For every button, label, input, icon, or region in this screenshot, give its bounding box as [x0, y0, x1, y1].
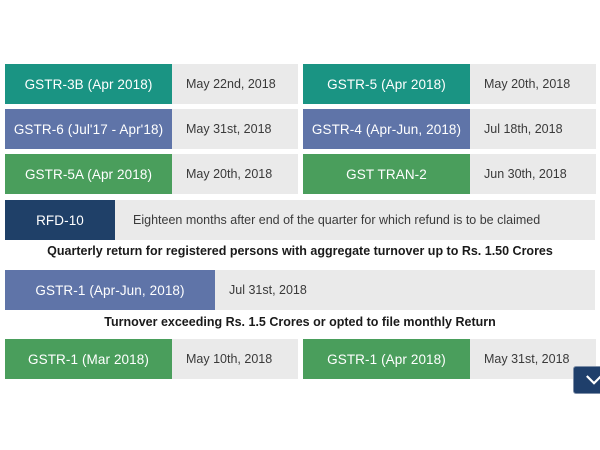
section-heading-quarterly: Quarterly return for registered persons … — [0, 244, 600, 258]
gst-due-date-table: GSTR-3B (Apr 2018) May 22nd, 2018 GSTR-5… — [0, 0, 600, 450]
chevron-down-icon — [586, 375, 600, 386]
table-row: GSTR-1 (Mar 2018) May 10th, 2018 GSTR-1 … — [5, 339, 595, 379]
table-row: GSTR-3B (Apr 2018) May 22nd, 2018 GSTR-5… — [5, 64, 595, 104]
table-row-gstr1-quarterly: GSTR-1 (Apr-Jun, 2018) Jul 31st, 2018 — [5, 270, 595, 310]
return-type-cell-gst-tran2[interactable]: GST TRAN-2 — [303, 154, 470, 194]
return-type-cell-gstr4[interactable]: GSTR-4 (Apr-Jun, 2018) — [303, 109, 470, 149]
due-date-cell-gstr3b-apr2018: May 22nd, 2018 — [172, 64, 298, 104]
due-date-cell-gstr5-apr2018: May 20th, 2018 — [470, 64, 596, 104]
table-row: GSTR-5A (Apr 2018) May 20th, 2018 GST TR… — [5, 154, 595, 194]
return-type-cell-gstr5-apr2018[interactable]: GSTR-5 (Apr 2018) — [303, 64, 470, 104]
return-type-cell-gstr1-apr2018[interactable]: GSTR-1 (Apr 2018) — [303, 339, 470, 379]
due-date-cell-gst-tran2: Jun 30th, 2018 — [470, 154, 596, 194]
return-type-cell-gstr1-aprjun[interactable]: GSTR-1 (Apr-Jun, 2018) — [5, 270, 215, 310]
due-date-cell-gstr4: Jul 18th, 2018 — [470, 109, 596, 149]
due-date-cell-gstr1-mar2018: May 10th, 2018 — [172, 339, 298, 379]
return-type-cell-gstr5a[interactable]: GSTR-5A (Apr 2018) — [5, 154, 172, 194]
return-type-cell-rfd10[interactable]: RFD-10 — [5, 200, 115, 240]
due-date-cell-gstr6: May 31st, 2018 — [172, 109, 298, 149]
due-date-cell-rfd10: Eighteen months after end of the quarter… — [115, 200, 595, 240]
due-date-cell-gstr5a: May 20th, 2018 — [172, 154, 298, 194]
return-type-cell-gstr3b-apr2018[interactable]: GSTR-3B (Apr 2018) — [5, 64, 172, 104]
table-row-rfd10: RFD-10 Eighteen months after end of the … — [5, 200, 595, 240]
return-type-cell-gstr6[interactable]: GSTR-6 (Jul'17 - Apr'18) — [5, 109, 172, 149]
section-heading-monthly: Turnover exceeding Rs. 1.5 Crores or opt… — [0, 315, 600, 329]
due-date-cell-gstr1-aprjun: Jul 31st, 2018 — [215, 270, 595, 310]
return-type-cell-gstr1-mar2018[interactable]: GSTR-1 (Mar 2018) — [5, 339, 172, 379]
table-row: GSTR-6 (Jul'17 - Apr'18) May 31st, 2018 … — [5, 109, 595, 149]
scroll-down-button[interactable] — [573, 366, 600, 394]
